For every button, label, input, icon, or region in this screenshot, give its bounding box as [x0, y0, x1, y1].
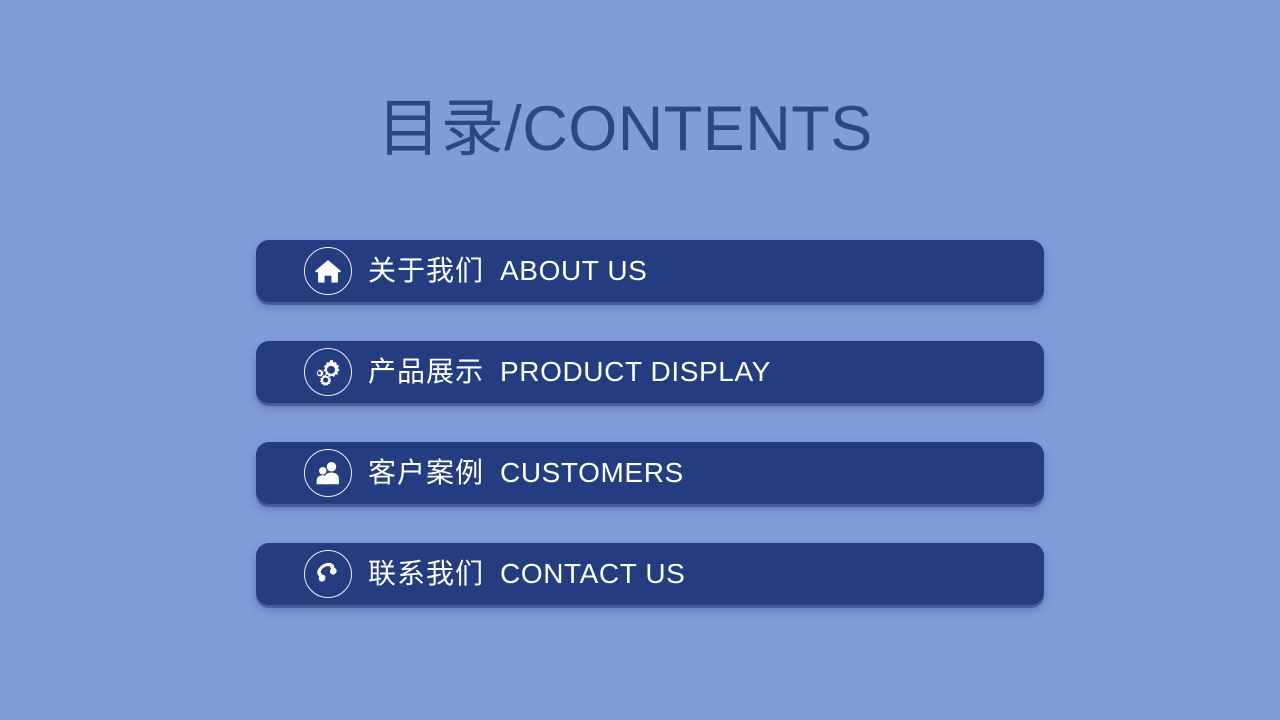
menu-item-product-display[interactable]: 产品展示PRODUCT DISPLAY — [256, 341, 1044, 403]
home-icon — [304, 247, 352, 295]
menu-item-label: 产品展示PRODUCT DISPLAY — [368, 358, 771, 386]
menu-item-label-cn: 产品展示 — [368, 356, 484, 387]
page-title: 目录/CONTENTS — [0, 96, 1250, 162]
menu-item-customers[interactable]: 客户案例CUSTOMERS — [256, 442, 1044, 504]
menu-item-label-cn: 关于我们 — [368, 255, 484, 286]
menu-item-label: 关于我们ABOUT US — [368, 257, 647, 285]
menu-item-contact-us[interactable]: 联系我们CONTACT US — [256, 543, 1044, 605]
gears-icon — [304, 348, 352, 396]
contents-slide: 目录/CONTENTS 关于我们ABOUT US — [0, 0, 1280, 720]
menu-item-label-cn: 客户案例 — [368, 457, 484, 488]
menu-item-label-en: CUSTOMERS — [500, 457, 684, 488]
page-title-text: 目录/CONTENTS — [377, 96, 873, 162]
menu-item-label-cn: 联系我们 — [368, 558, 484, 589]
phone-icon — [304, 550, 352, 598]
menu-item-label-en: PRODUCT DISPLAY — [500, 356, 771, 387]
menu-item-label-en: CONTACT US — [500, 558, 685, 589]
menu-item-label: 联系我们CONTACT US — [368, 560, 685, 588]
menu-item-about-us[interactable]: 关于我们ABOUT US — [256, 240, 1044, 302]
users-icon — [304, 449, 352, 497]
menu-item-label-en: ABOUT US — [500, 255, 647, 286]
menu-item-label: 客户案例CUSTOMERS — [368, 459, 684, 487]
contents-menu: 关于我们ABOUT US 产品展示PRODUCT DISPL — [256, 240, 1044, 605]
